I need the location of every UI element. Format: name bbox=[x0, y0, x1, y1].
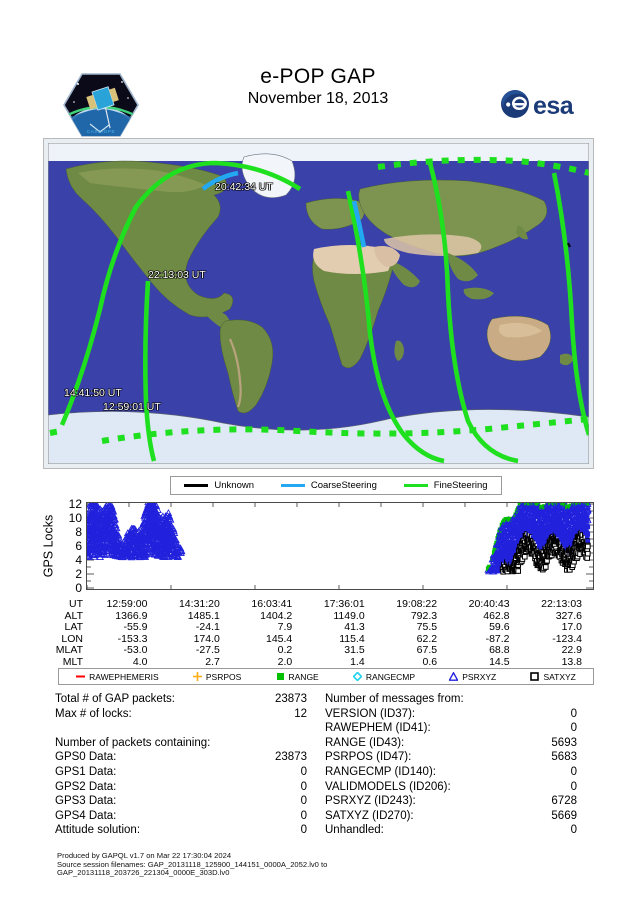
stat-row: RANGE (ID43): 5693 bbox=[325, 736, 595, 751]
cell-alt: 1404.2 bbox=[232, 611, 304, 623]
stat-row: SATXYZ (ID270): 5669 bbox=[325, 809, 595, 824]
table-row: UT 12:59:00 14:31:20 16:03:41 17:36:01 1… bbox=[43, 599, 594, 611]
stat-value: 0 bbox=[503, 823, 595, 838]
gps-locks-scatter-plot[interactable] bbox=[86, 502, 594, 590]
stat-row: PSRXYZ (ID243): 6728 bbox=[325, 794, 595, 809]
australia bbox=[487, 316, 551, 361]
marker-dash-icon bbox=[76, 672, 85, 681]
stat-value: 23873 bbox=[233, 750, 325, 765]
world-map[interactable]: 20:42:34 UT 22:13:03 UT 14:41:50 UT 12:5… bbox=[48, 143, 589, 464]
row-label-lat: LAT bbox=[43, 622, 87, 634]
cell-ut: 22:13:03 bbox=[522, 599, 594, 611]
page-title: e-POP GAP bbox=[0, 64, 636, 89]
stat-label: Total # of GAP packets: bbox=[55, 692, 233, 707]
cell-lat: 41.3 bbox=[304, 622, 376, 634]
series-psrxyz-left bbox=[87, 503, 185, 560]
legend-item-range: RANGE bbox=[276, 672, 319, 682]
map-time-label: 22:13:03 UT bbox=[148, 269, 206, 281]
legend-item-psrpos: PSRPOS bbox=[193, 672, 241, 682]
stat-label: RANGECMP (ID140): bbox=[325, 765, 503, 780]
footer-line-source-2: GAP_20131118_203726_221304_0000E_303D.lv… bbox=[57, 869, 327, 878]
map-time-label: 20:42:34 UT bbox=[215, 181, 273, 193]
cell-ut: 12:59:00 bbox=[87, 599, 159, 611]
stat-row: RAWEPHEM (ID41): 0 bbox=[325, 721, 595, 736]
y-tick: 10 bbox=[69, 513, 82, 523]
cell-ut: 20:40:43 bbox=[449, 599, 521, 611]
cell-mlt: 13.8 bbox=[522, 657, 594, 669]
footer-provenance: Produced by GAPQL v1.7 on Mar 22 17:30:0… bbox=[57, 852, 327, 878]
stat-label: RAWEPHEM (ID41): bbox=[325, 721, 503, 736]
esa-logo-icon: esa bbox=[500, 88, 592, 120]
ground-track-map-panel[interactable]: 20:42:34 UT 22:13:03 UT 14:41:50 UT 12:5… bbox=[43, 138, 594, 469]
stats-spacer bbox=[55, 721, 325, 736]
stat-label: GPS2 Data: bbox=[55, 780, 233, 795]
mission-patch-label: CASSIOPE bbox=[87, 129, 115, 134]
stat-row: GPS3 Data: 0 bbox=[55, 794, 325, 809]
stat-row: GPS2 Data: 0 bbox=[55, 780, 325, 795]
legend-label-finesteering: FineSteering bbox=[434, 480, 488, 491]
stat-label: GPS3 Data: bbox=[55, 794, 233, 809]
marker-square-filled-icon bbox=[276, 672, 285, 681]
page-header bbox=[0, 0, 636, 68]
stat-value: 0 bbox=[233, 765, 325, 780]
legend-label-satxyz: SATXYZ bbox=[543, 672, 575, 682]
table-row: LAT -55.9 -24.1 7.9 41.3 75.5 59.6 17.0 bbox=[43, 622, 594, 634]
legend-item-rangecmp: RANGECMP bbox=[353, 672, 415, 682]
cell-ut: 17:36:01 bbox=[304, 599, 376, 611]
legend-item-finesteering: FineSteering bbox=[404, 480, 488, 491]
y-tick: 4 bbox=[75, 555, 82, 565]
stat-value: 0 bbox=[233, 809, 325, 824]
orbit-parameters-table: UT 12:59:00 14:31:20 16:03:41 17:36:01 1… bbox=[43, 599, 594, 668]
legend-label-psrxyz: PSRXYZ bbox=[462, 672, 496, 682]
stat-label: VERSION (ID37): bbox=[325, 707, 503, 722]
cell-mlt: 1.4 bbox=[304, 657, 376, 669]
stat-row: GPS0 Data: 23873 bbox=[55, 750, 325, 765]
map-time-label: 12:59:01 UT bbox=[103, 401, 161, 413]
esa-wordmark: esa bbox=[533, 92, 575, 120]
legend-label-rawephemeris: RAWEPHEMERIS bbox=[89, 672, 159, 682]
y-tick: 12 bbox=[69, 499, 82, 509]
stat-value: 12 bbox=[233, 707, 325, 722]
stat-row: GPS4 Data: 0 bbox=[55, 809, 325, 824]
cell-lat: -55.9 bbox=[87, 622, 159, 634]
legend-item-satxyz: SATXYZ bbox=[530, 672, 575, 682]
gps-locks-y-axis: 12 10 8 6 4 2 0 bbox=[58, 498, 84, 594]
stat-value: 5669 bbox=[503, 809, 595, 824]
marker-diamond-icon bbox=[353, 672, 362, 681]
cell-ut: 19:08:22 bbox=[377, 599, 449, 611]
stat-row: RANGECMP (ID140): 0 bbox=[325, 765, 595, 780]
stat-label: GPS1 Data: bbox=[55, 765, 233, 780]
legend-swatch-unknown bbox=[184, 484, 208, 487]
stat-total-packets: Total # of GAP packets: 23873 bbox=[55, 692, 325, 707]
legend-label-psrpos: PSRPOS bbox=[206, 672, 241, 682]
legend-label-range: RANGE bbox=[289, 672, 319, 682]
row-label-mlt: MLT bbox=[43, 657, 87, 669]
stat-label: RANGE (ID43): bbox=[325, 736, 503, 751]
marker-plus-icon bbox=[193, 672, 202, 681]
marker-triangle-icon bbox=[449, 672, 458, 681]
legend-label-rangecmp: RANGECMP bbox=[366, 672, 415, 682]
stat-label: VALIDMODELS (ID206): bbox=[325, 780, 503, 795]
cell-mlt: 14.5 bbox=[449, 657, 521, 669]
gps-locks-axis-title: GPS Locks bbox=[38, 500, 58, 592]
stat-label: SATXYZ (ID270): bbox=[325, 809, 503, 824]
stats-right-column: Number of messages from: VERSION (ID37):… bbox=[325, 692, 595, 838]
y-tick: 6 bbox=[75, 541, 82, 551]
cell-lon: 62.2 bbox=[377, 634, 449, 646]
stat-value: 0 bbox=[503, 780, 595, 795]
row-label-mlat: MLAT bbox=[43, 645, 87, 657]
legend-item-psrxyz: PSRXYZ bbox=[449, 672, 496, 682]
cell-mlt: 2.7 bbox=[159, 657, 231, 669]
cell-mlat: 67.5 bbox=[377, 645, 449, 657]
cell-lat: 75.5 bbox=[377, 622, 449, 634]
stat-row: Attitude solution: 0 bbox=[55, 823, 325, 838]
cell-mlat: 0.2 bbox=[232, 645, 304, 657]
stat-value: 5693 bbox=[503, 736, 595, 751]
legend-item-unknown: Unknown bbox=[184, 480, 254, 491]
series-right-pass bbox=[485, 503, 591, 574]
cell-mlat: -53.0 bbox=[87, 645, 159, 657]
stat-label: Max # of locks: bbox=[55, 707, 233, 722]
y-tick: 0 bbox=[75, 583, 82, 593]
stats-right-heading: Number of messages from: bbox=[325, 692, 595, 707]
table-row: MLT 4.0 2.7 2.0 1.4 0.6 14.5 13.8 bbox=[43, 657, 594, 669]
cell-alt: 792.3 bbox=[377, 611, 449, 623]
stat-label: GPS0 Data: bbox=[55, 750, 233, 765]
gps-locks-axis-title-text: GPS Locks bbox=[41, 515, 55, 578]
table-row: MLAT -53.0 -27.5 0.2 31.5 67.5 68.8 22.9 bbox=[43, 645, 594, 657]
cell-ut: 16:03:41 bbox=[232, 599, 304, 611]
stat-value: 0 bbox=[233, 794, 325, 809]
stat-label: Attitude solution: bbox=[55, 823, 233, 838]
cell-mlat: 31.5 bbox=[304, 645, 376, 657]
message-type-legend: RAWEPHEMERIS PSRPOS RANGE RANGECMP PSRXY… bbox=[58, 668, 594, 685]
cell-alt: 1149.0 bbox=[304, 611, 376, 623]
cell-mlat: 22.9 bbox=[522, 645, 594, 657]
cell-lon: -123.4 bbox=[522, 634, 594, 646]
stat-value: 0 bbox=[233, 780, 325, 795]
legend-label-coarsesteering: CoarseSteering bbox=[311, 480, 377, 491]
legend-label-unknown: Unknown bbox=[214, 480, 254, 491]
stat-row: VERSION (ID37): 0 bbox=[325, 707, 595, 722]
stat-value: 0 bbox=[503, 721, 595, 736]
world-map-svg bbox=[48, 143, 589, 464]
stat-max-locks: Max # of locks: 12 bbox=[55, 707, 325, 722]
stat-label: PSRPOS (ID47): bbox=[325, 750, 503, 765]
cell-lon: -87.2 bbox=[449, 634, 521, 646]
legend-item-coarsesteering: CoarseSteering bbox=[281, 480, 377, 491]
stat-row: GPS1 Data: 0 bbox=[55, 765, 325, 780]
stats-left-heading: Number of packets containing: bbox=[55, 736, 325, 751]
y-tick: 8 bbox=[75, 527, 82, 537]
y-tick: 2 bbox=[75, 569, 82, 579]
stat-row: PSRPOS (ID47): 5683 bbox=[325, 750, 595, 765]
cell-mlat: -27.5 bbox=[159, 645, 231, 657]
stat-value: 6728 bbox=[503, 794, 595, 809]
cell-alt: 327.6 bbox=[522, 611, 594, 623]
stat-value: 5683 bbox=[503, 750, 595, 765]
cell-lat: -24.1 bbox=[159, 622, 231, 634]
cell-mlt: 2.0 bbox=[232, 657, 304, 669]
cell-lon: 145.4 bbox=[232, 634, 304, 646]
stat-label: Unhandled: bbox=[325, 823, 503, 838]
cell-ut: 14:31:20 bbox=[159, 599, 231, 611]
track-mode-legend: Unknown CoarseSteering FineSteering bbox=[170, 476, 502, 495]
gps-locks-plot-svg bbox=[87, 503, 593, 589]
cell-lat: 17.0 bbox=[522, 622, 594, 634]
cell-mlt: 0.6 bbox=[377, 657, 449, 669]
legend-swatch-finesteering bbox=[404, 484, 428, 487]
stats-left-column: Total # of GAP packets: 23873 Max # of l… bbox=[55, 692, 325, 838]
legend-item-rawephemeris: RAWEPHEMERIS bbox=[76, 672, 159, 682]
map-time-label: 14:41:50 UT bbox=[64, 387, 122, 399]
stat-row: Unhandled: 0 bbox=[325, 823, 595, 838]
statistics-block: Total # of GAP packets: 23873 Max # of l… bbox=[55, 692, 595, 838]
marker-square-open-icon bbox=[530, 672, 539, 681]
cell-alt: 462.8 bbox=[449, 611, 521, 623]
cell-mlat: 68.8 bbox=[449, 645, 521, 657]
cell-mlt: 4.0 bbox=[87, 657, 159, 669]
stat-label: GPS4 Data: bbox=[55, 809, 233, 824]
cell-lon: 115.4 bbox=[304, 634, 376, 646]
stat-row: VALIDMODELS (ID206): 0 bbox=[325, 780, 595, 795]
stat-value: 23873 bbox=[233, 692, 325, 707]
row-label-ut: UT bbox=[43, 599, 87, 611]
cell-lat: 7.9 bbox=[232, 622, 304, 634]
cell-lat: 59.6 bbox=[449, 622, 521, 634]
stat-value: 0 bbox=[233, 823, 325, 838]
stat-label: PSRXYZ (ID243): bbox=[325, 794, 503, 809]
stat-value: 0 bbox=[503, 707, 595, 722]
stat-value: 0 bbox=[503, 765, 595, 780]
legend-swatch-coarsesteering bbox=[281, 484, 305, 487]
